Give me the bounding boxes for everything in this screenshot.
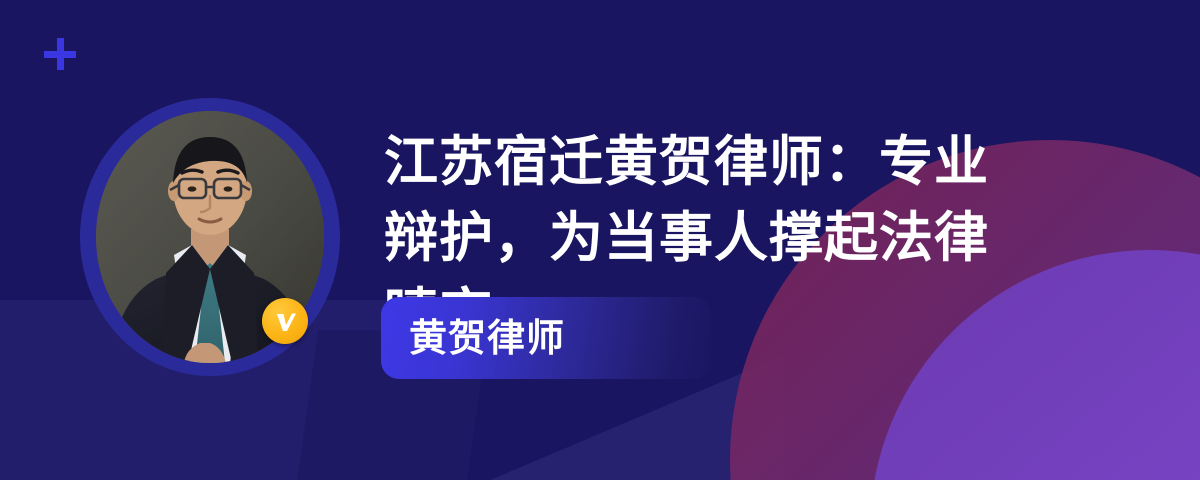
plus-icon-horizontal-bar (44, 51, 76, 58)
promo-banner: 江苏宿迁黄贺律师：专业 辩护，为当事人撑起法律 晴空 黄贺律师 (0, 0, 1200, 480)
plus-icon (44, 38, 76, 70)
headline-line-2: 辩护，为当事人撑起法律 (384, 200, 1074, 276)
avatar[interactable] (80, 98, 340, 376)
lawyer-name-badge[interactable]: 黄贺律师 (381, 297, 711, 379)
verified-check-icon (262, 298, 308, 344)
lawyer-name-label: 黄贺律师 (409, 317, 565, 361)
headline-line-1: 江苏宿迁黄贺律师：专业 (384, 124, 1074, 200)
